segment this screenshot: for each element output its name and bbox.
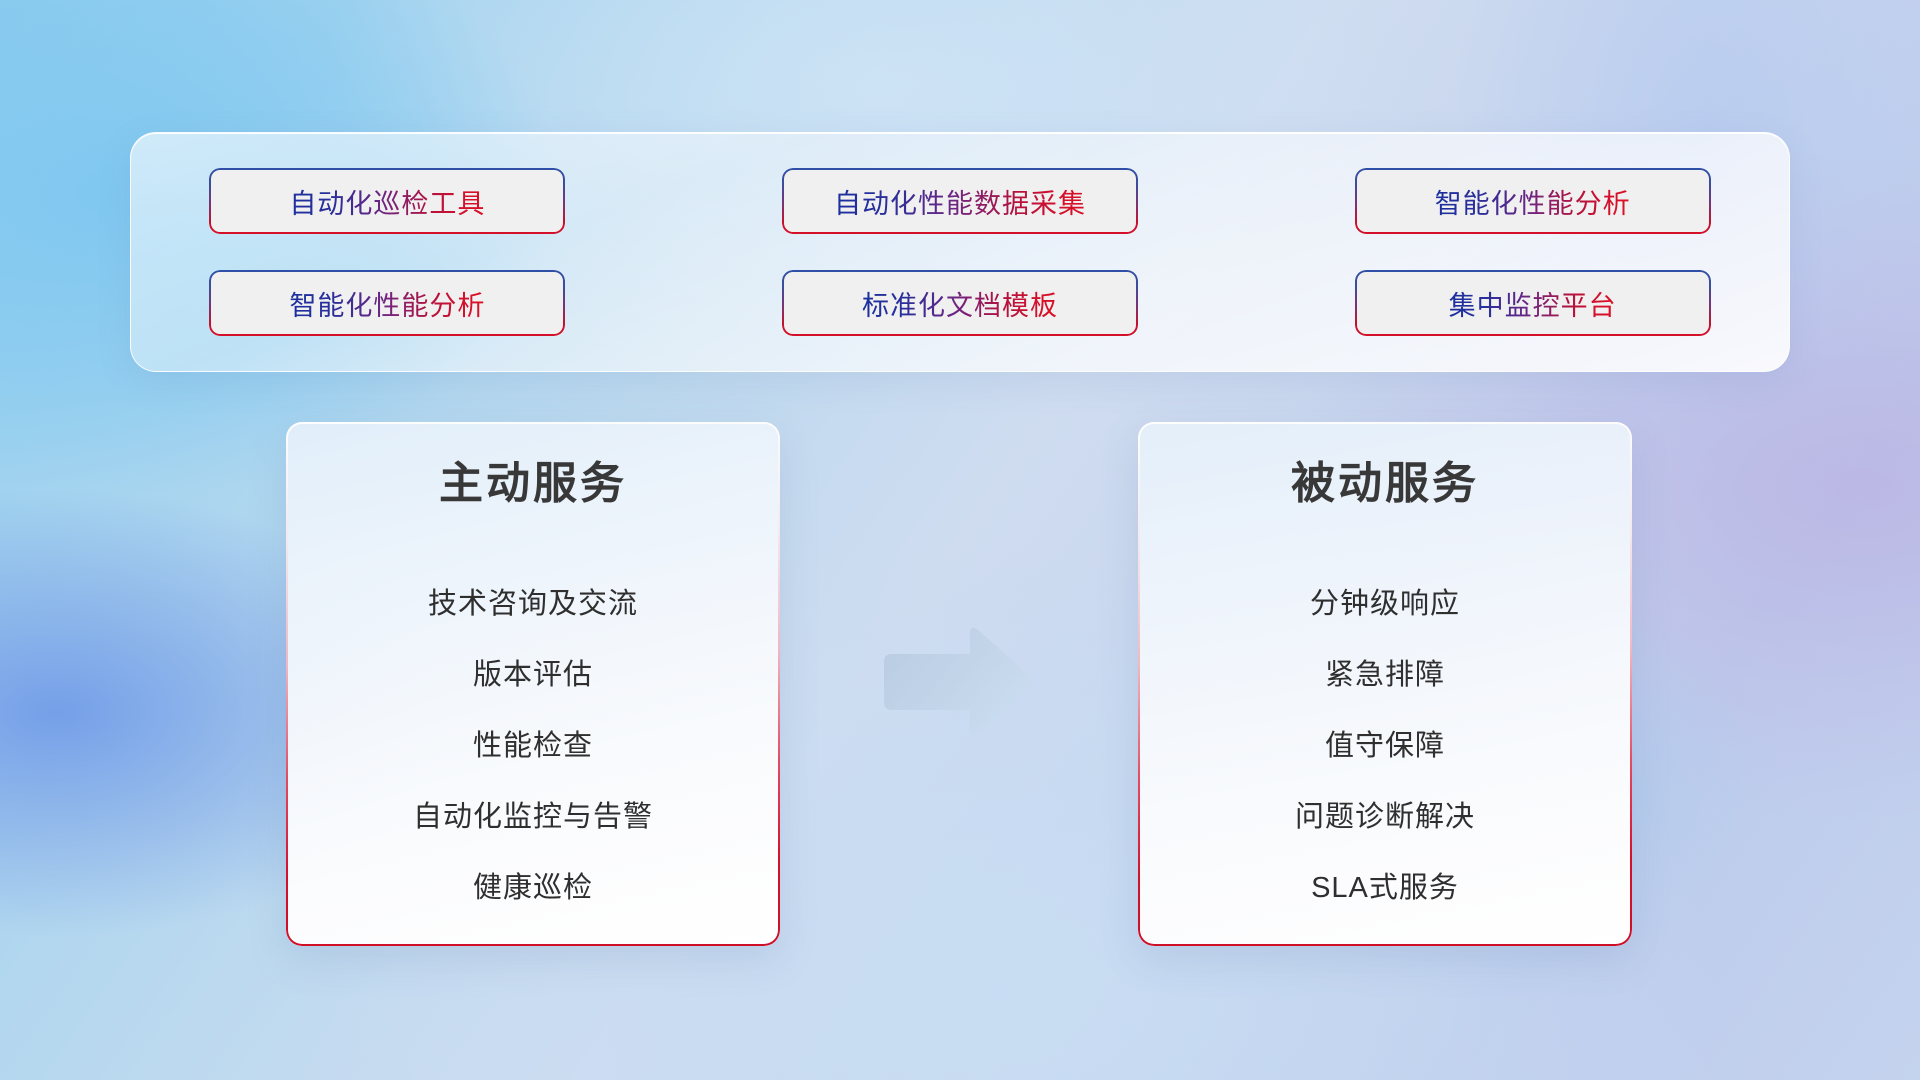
service-item-list-active: 技术咨询及交流 版本评估 性能检查 自动化监控与告警 健康巡检 — [328, 569, 738, 924]
chip-centralized-monitoring-platform[interactable]: 集中监控平台 — [1355, 270, 1711, 336]
service-card-passive: 被动服务 分钟级响应 紧急排障 值守保障 问题诊断解决 SLA式服务 — [1138, 422, 1632, 946]
chip-label: 自动化性能数据采集 — [834, 182, 1086, 221]
chip-label: 智能化性能分析 — [289, 284, 485, 323]
list-item: 值守保障 — [1325, 711, 1445, 782]
list-item: 技术咨询及交流 — [428, 569, 638, 640]
right-arrow-icon — [878, 622, 1038, 742]
list-item: 版本评估 — [473, 640, 593, 711]
chip-label: 标准化文档模板 — [862, 284, 1058, 323]
capability-chip-panel: 自动化巡检工具 自动化性能数据采集 智能化性能分析 智能化性能分析 标准化文档模… — [130, 132, 1790, 372]
list-item: 自动化监控与告警 — [413, 782, 653, 853]
chip-label: 自动化巡检工具 — [289, 182, 485, 221]
chip-automation-performance-collection[interactable]: 自动化性能数据采集 — [782, 168, 1138, 234]
service-card-inner: 主动服务 技术咨询及交流 版本评估 性能检查 自动化监控与告警 健康巡检 — [286, 422, 780, 946]
list-item: SLA式服务 — [1311, 853, 1459, 924]
list-item: 紧急排障 — [1325, 640, 1445, 711]
chip-label: 集中监控平台 — [1449, 284, 1617, 323]
chip-label: 智能化性能分析 — [1435, 182, 1631, 221]
chip-automation-inspection-tool[interactable]: 自动化巡检工具 — [209, 168, 565, 234]
service-card-active: 主动服务 技术咨询及交流 版本评估 性能检查 自动化监控与告警 健康巡检 — [286, 422, 780, 946]
list-item: 问题诊断解决 — [1295, 782, 1475, 853]
chip-intelligent-performance-analysis-top[interactable]: 智能化性能分析 — [1355, 168, 1711, 234]
card-title-active: 主动服务 — [439, 456, 627, 511]
chip-intelligent-performance-analysis-bottom[interactable]: 智能化性能分析 — [209, 270, 565, 336]
card-title-passive: 被动服务 — [1291, 456, 1479, 511]
chip-standard-doc-template[interactable]: 标准化文档模板 — [782, 270, 1138, 336]
service-card-inner: 被动服务 分钟级响应 紧急排障 值守保障 问题诊断解决 SLA式服务 — [1138, 422, 1632, 946]
list-item: 健康巡检 — [473, 853, 593, 924]
service-item-list-passive: 分钟级响应 紧急排障 值守保障 问题诊断解决 SLA式服务 — [1180, 569, 1590, 924]
list-item: 性能检查 — [473, 711, 593, 782]
list-item: 分钟级响应 — [1310, 569, 1460, 640]
